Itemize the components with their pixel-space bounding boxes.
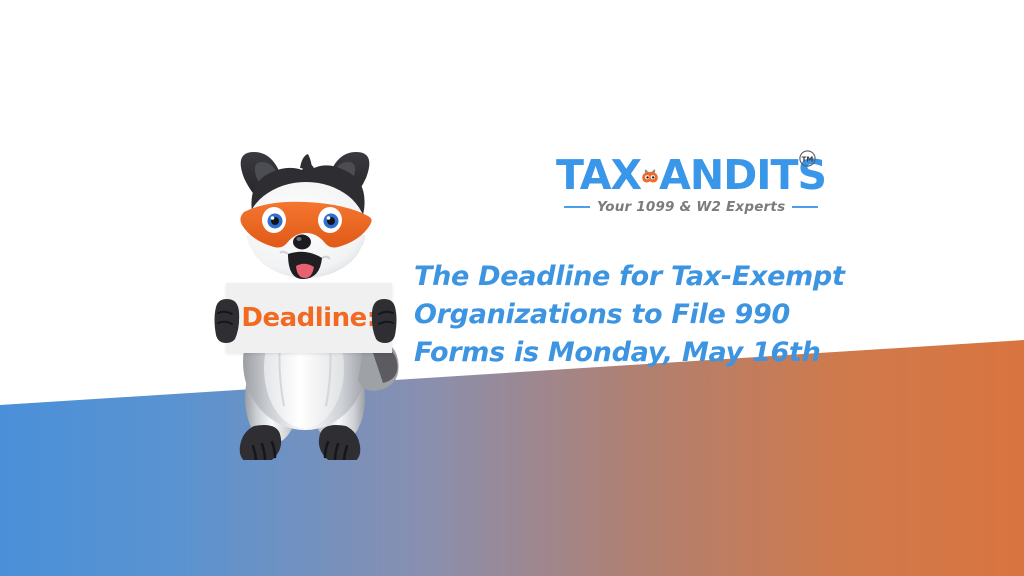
headline-line-3: Forms is Monday, May 16th — [414, 334, 814, 372]
mascot-foot-left — [240, 425, 281, 460]
taxbandits-logo[interactable]: TAX ANDITS TM Your 1099 & W2 Experts — [556, 152, 826, 220]
headline: The Deadline for Tax-Exempt Organization… — [414, 258, 814, 372]
headline-line-2: Organizations to File 990 — [414, 296, 814, 334]
mascot-paw-left-icon — [214, 297, 240, 343]
mascot-nose — [293, 235, 311, 250]
trademark-icon: TM — [799, 150, 816, 167]
logo-word-tax: TAX — [556, 155, 641, 196]
logo-wordmark: TAX ANDITS TM — [556, 152, 826, 198]
tagline-rule-right — [792, 206, 818, 208]
sign-label: Deadline: — [226, 283, 392, 353]
promo-banner: Deadline: TAX ANDITS T — [0, 0, 1024, 576]
headline-line-1: The Deadline for Tax-Exempt — [414, 258, 814, 296]
deadline-sign: Deadline: — [226, 283, 392, 353]
logo-tagline: Your 1099 & W2 Experts — [564, 196, 822, 218]
svg-text:TM: TM — [802, 156, 814, 164]
mascot-paw-right-icon — [371, 297, 397, 343]
bandit-mask-icon — [642, 156, 658, 196]
logo-tagline-text: Your 1099 & W2 Experts — [597, 199, 785, 215]
tagline-rule-left — [564, 206, 590, 208]
